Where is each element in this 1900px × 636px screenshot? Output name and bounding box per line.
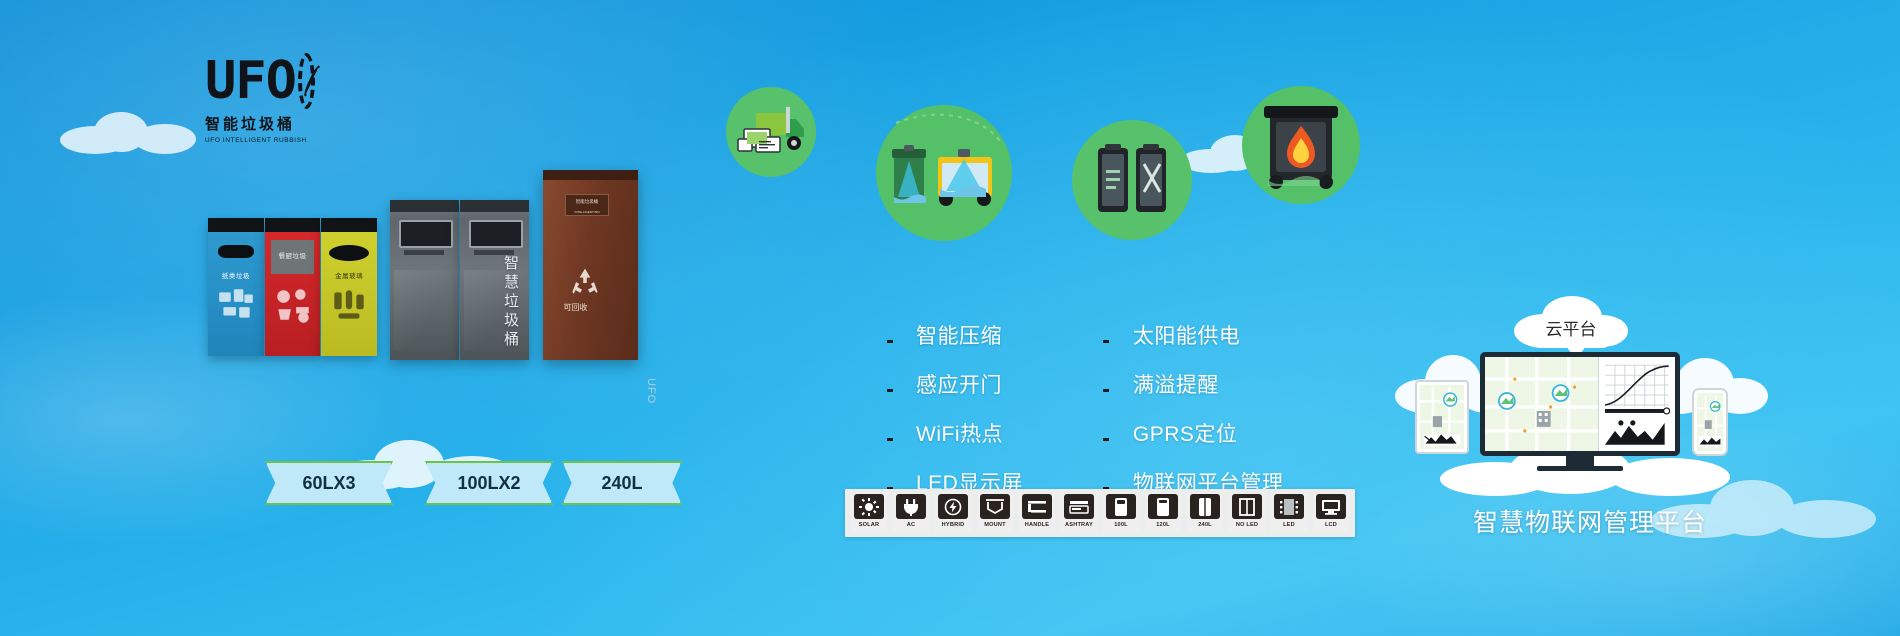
tablet-map-icon — [1420, 385, 1464, 449]
monitor-neck — [1566, 456, 1594, 466]
feature-label: WiFi热点 — [916, 418, 1003, 448]
spec-icon-no-led: NO LED — [1229, 493, 1265, 533]
feature-item: GPRS定位 — [1097, 418, 1284, 448]
bin-fire-alarm-icon — [1242, 86, 1360, 204]
spec-caption: NO LED — [1236, 522, 1258, 528]
power-plug-icon — [896, 494, 926, 519]
promo-banner: UFO 智能垃圾桶 UFO INTELLIGENT RUBBISH 纸类垃圾 — [0, 0, 1900, 636]
dashboard-map-panel — [1485, 357, 1598, 451]
kitchen-waste-icon — [272, 284, 314, 326]
garbage-truck-dashboard-icon — [726, 87, 816, 177]
bin-to-truck-transfer-icon — [876, 105, 1012, 241]
analytics-chart-icon — [1599, 357, 1675, 451]
cloud-platform-badge: 云平台 — [1512, 295, 1630, 349]
large-bin: 智能垃圾桶 INTELLIGENT BIN 可回收 — [543, 170, 638, 360]
paper-waste-icon — [215, 284, 257, 326]
spec-icon-solar: SOLAR — [851, 493, 887, 533]
highlight-circle-fire — [1242, 86, 1360, 204]
led-panel-icon — [1274, 494, 1304, 519]
brand-cn-name: 智能垃圾桶 — [205, 113, 315, 134]
handle-icon — [1022, 494, 1052, 519]
monitor-base — [1537, 466, 1623, 471]
two-bins-compare-icon — [1072, 120, 1192, 240]
desktop-monitor — [1480, 352, 1680, 472]
spec-caption: SOLAR — [859, 522, 880, 528]
bin-slot-icon — [329, 245, 369, 261]
bin-100l-icon — [1106, 494, 1136, 519]
tablet-device — [1415, 380, 1469, 454]
monitor-icon — [880, 426, 899, 441]
platform-title: 智慧物联网管理平台 — [1450, 503, 1730, 539]
capacity-label: 60LX3 — [302, 473, 355, 494]
capacity-banner-240l: 240L — [562, 461, 682, 505]
brand-wordmark: UFO — [205, 55, 296, 107]
monitor-icon — [880, 475, 899, 490]
feature-column-right: 太阳能供电 满溢提醒 GPRS定位 物联网平台管理 — [1097, 320, 1284, 497]
spec-icon-handle: HANDLE — [1019, 493, 1055, 533]
bin-compartment-metal-glass: 金属玻璃 — [321, 218, 377, 356]
lcd-screen-icon — [1316, 494, 1346, 519]
spec-caption: 240L — [1198, 522, 1212, 528]
feature-label: 太阳能供电 — [1133, 320, 1241, 350]
three-color-bin-group: 纸类垃圾 餐厨垃圾 — [208, 218, 378, 356]
bin-compartment-paper: 纸类垃圾 — [208, 218, 264, 356]
spec-caption: AC — [907, 522, 915, 528]
recycle-label: 可回收 — [543, 302, 608, 313]
dual-bin-side-text: 智慧垃圾桶 — [500, 255, 521, 350]
spec-caption: ASHTRAY — [1065, 522, 1093, 528]
monitor-icon — [1097, 328, 1116, 343]
bin-120l-icon — [1148, 494, 1178, 519]
city-map-icon — [1485, 357, 1598, 451]
bin-sign: 智能垃圾桶 INTELLIGENT BIN — [565, 194, 609, 216]
spec-icon-strip: SOLAR AC HYBRID MOUNT — [845, 489, 1355, 537]
dashboard-chart-panel — [1598, 357, 1675, 451]
spec-caption: 100L — [1114, 522, 1128, 528]
feature-column-left: 智能压缩 感应开门 WiFi热点 LED显示屏 — [880, 320, 1023, 497]
spec-caption: HANDLE — [1025, 522, 1050, 528]
feature-item: 太阳能供电 — [1097, 320, 1284, 350]
capacity-label: 100LX2 — [457, 473, 520, 494]
bin-sign-subtext: INTELLIGENT BIN — [566, 205, 608, 215]
feature-label: GPRS定位 — [1133, 418, 1238, 448]
hybrid-bolt-icon — [938, 494, 968, 519]
brand-en-name: UFO INTELLIGENT RUBBISH — [205, 137, 315, 144]
bin-slot-icon — [218, 245, 254, 258]
spec-icon-led: LED — [1271, 493, 1307, 533]
smartphone-device — [1692, 388, 1728, 456]
sun-icon — [854, 494, 884, 519]
highlight-circle-transfer — [876, 105, 1012, 241]
monitor-icon — [880, 328, 899, 343]
monitor-screen — [1485, 357, 1675, 451]
capacity-banner-100lx2: 100LX2 — [425, 461, 553, 505]
cloud-decoration — [60, 110, 210, 156]
feature-label: 智能压缩 — [916, 320, 1002, 350]
capacity-label: 240L — [601, 473, 642, 494]
spec-caption: HYBRID — [942, 522, 965, 528]
monitor-icon — [880, 377, 899, 392]
spec-icon-hybrid: HYBRID — [935, 493, 971, 533]
feature-item: WiFi热点 — [880, 418, 1023, 448]
dual-bin-brand-mark: UFO — [645, 378, 657, 404]
monitor-icon — [1097, 377, 1116, 392]
no-led-icon — [1232, 494, 1262, 519]
monitor-icon — [1097, 426, 1116, 441]
spec-icon-100l: 100L — [1103, 493, 1139, 533]
spec-icon-120l: 120L — [1145, 493, 1181, 533]
spec-caption: LCD — [1325, 522, 1337, 528]
spec-icon-ac: AC — [893, 493, 929, 533]
spec-caption: LED — [1283, 522, 1295, 528]
cloud-platform-label: 云平台 — [1512, 315, 1630, 340]
feature-item: 智能压缩 — [880, 320, 1023, 350]
bin-240l-icon — [1190, 494, 1220, 519]
bin-compartment-kitchen: 餐厨垃圾 — [265, 218, 321, 356]
spec-caption: MOUNT — [984, 522, 1006, 528]
spec-icon-mount: MOUNT — [977, 493, 1013, 533]
phone-map-icon — [1697, 393, 1723, 451]
spec-icon-ashtray: ASHTRAY — [1061, 493, 1097, 533]
spec-caption: 120L — [1156, 522, 1170, 528]
bin-sign-text: 智能垃圾桶 — [566, 195, 608, 205]
dual-bin-left — [390, 200, 459, 360]
highlight-circle-truck — [726, 87, 816, 177]
feature-item: 满溢提醒 — [1097, 369, 1284, 399]
highlight-circle-bins — [1072, 120, 1192, 240]
ashtray-icon — [1064, 494, 1094, 519]
monitor-icon — [1097, 475, 1116, 490]
ufo-ring-icon — [298, 53, 315, 109]
wall-mount-icon — [980, 494, 1010, 519]
monitor-frame — [1480, 352, 1680, 456]
capacity-banner-60lx3: 60LX3 — [265, 461, 393, 505]
spec-icon-lcd: LCD — [1313, 493, 1349, 533]
feature-list: 智能压缩 感应开门 WiFi热点 LED显示屏 太阳能供电 满溢提醒 — [880, 320, 1283, 497]
bin-label: 纸类垃圾 — [208, 270, 264, 280]
feature-item: 感应开门 — [880, 369, 1023, 399]
feature-label: 满溢提醒 — [1133, 369, 1219, 399]
metal-glass-waste-icon — [328, 284, 370, 326]
feature-label: 感应开门 — [916, 369, 1002, 399]
brand-logo: UFO 智能垃圾桶 UFO INTELLIGENT RUBBISH — [205, 52, 315, 144]
recycle-icon — [567, 265, 603, 301]
bin-label: 金属玻璃 — [321, 270, 377, 280]
spec-icon-240l: 240L — [1187, 493, 1223, 533]
bin-label: 餐厨垃圾 — [265, 250, 321, 260]
